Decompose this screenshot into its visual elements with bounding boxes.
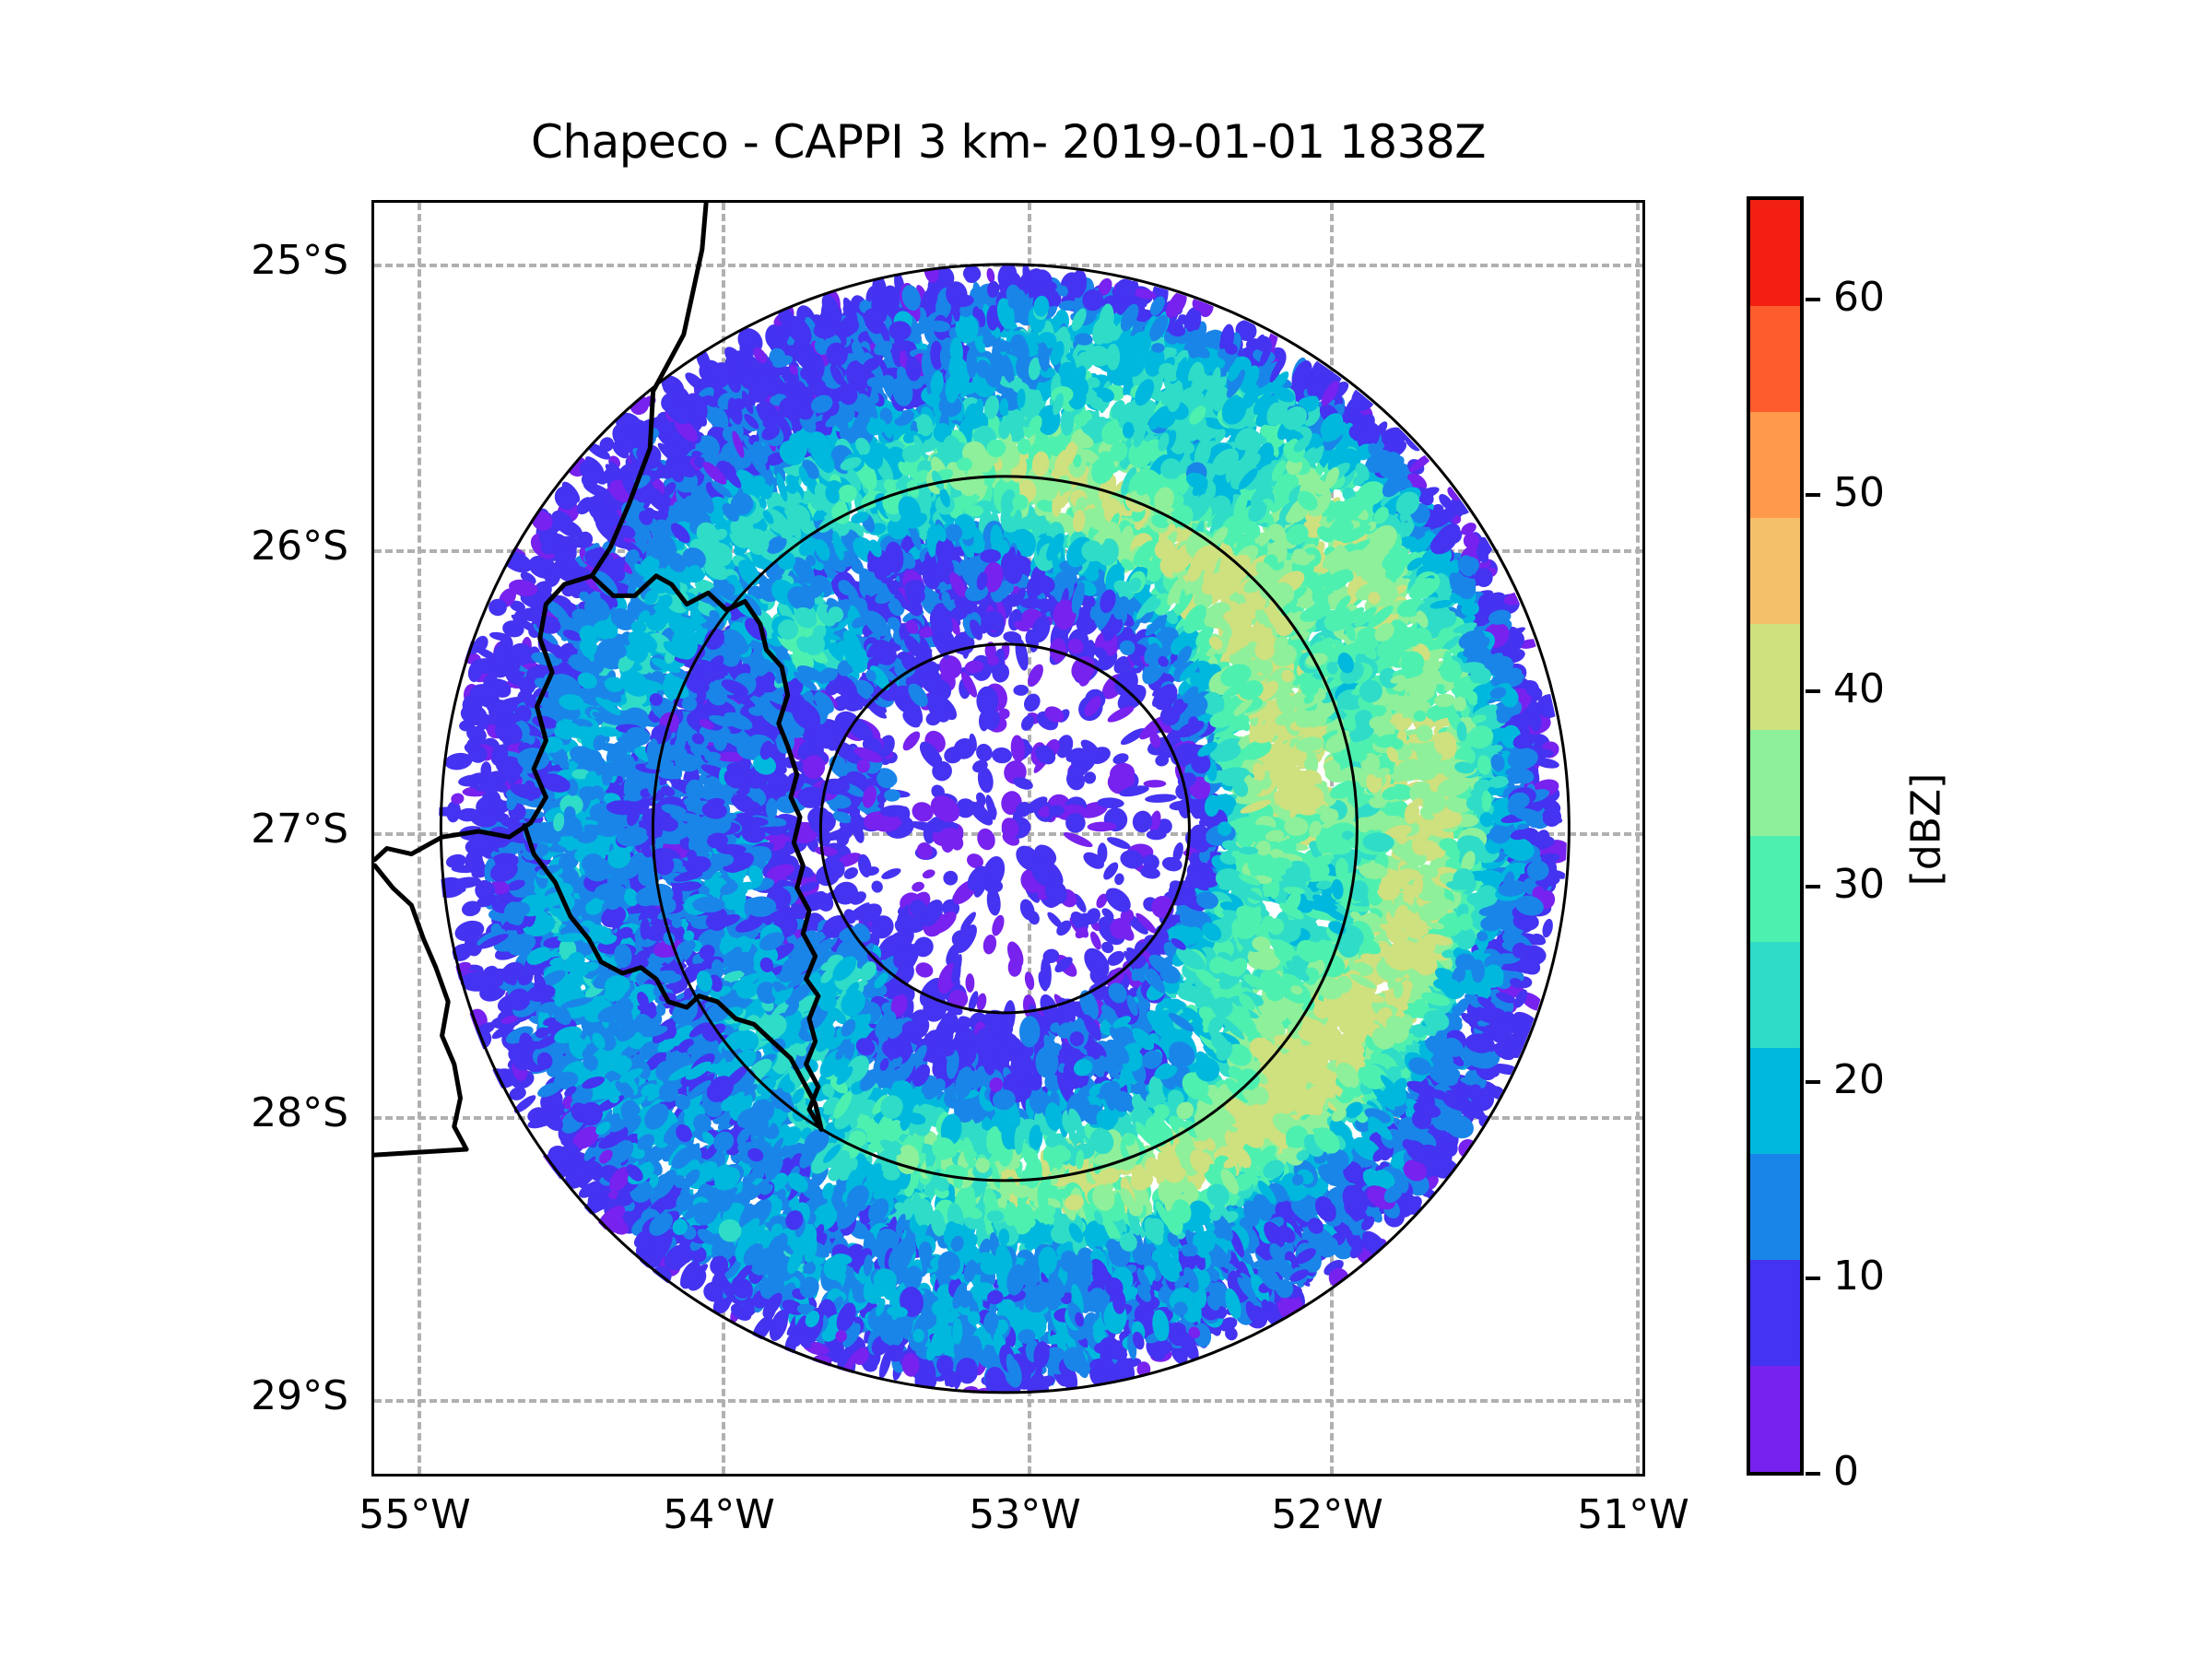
page-title: Chapeco - CAPPI 3 km- 2019-01-01 1838Z — [371, 114, 1645, 170]
ytick-label-28S: 28°S — [251, 1089, 348, 1137]
ytick-26S — [371, 549, 374, 552]
ytick-27S — [371, 832, 374, 835]
ytick-28S — [371, 1116, 374, 1119]
xtick-label-53W: 53°W — [969, 1491, 1081, 1539]
colorbar-tick-50 — [1806, 493, 1820, 497]
colorbar-tick-label-0: 0 — [1833, 1449, 1859, 1495]
map-axes — [371, 200, 1645, 1477]
colorbar-tick-0 — [1806, 1472, 1820, 1476]
xtick-label-52W: 52°W — [1271, 1491, 1383, 1539]
colorbar-band-0 — [1750, 1366, 1800, 1472]
xtick-label-54W: 54°W — [663, 1491, 775, 1539]
xtick-label-55W: 55°W — [359, 1491, 471, 1539]
colorbar-tick-10 — [1806, 1277, 1820, 1280]
radar-reflectivity-layer — [374, 203, 1642, 1474]
ytick-label-27S: 27°S — [251, 806, 348, 853]
ytick-label-29S: 29°S — [251, 1372, 348, 1420]
ytick-label-26S: 26°S — [251, 523, 348, 571]
colorbar-tick-label-20: 20 — [1833, 1057, 1885, 1103]
colorbar-tick-label-30: 30 — [1833, 862, 1885, 908]
colorbar-tick-label-10: 10 — [1833, 1253, 1885, 1300]
colorbar-ticks: 0102030405060 — [1806, 196, 1916, 1476]
colorbar-tick-20 — [1806, 1080, 1820, 1084]
colorbar-tick-40 — [1806, 689, 1820, 693]
colorbar-unit-label: [dBZ] — [1903, 773, 1950, 887]
colorbar-band-6 — [1750, 730, 1800, 836]
colorbar-tick-30 — [1806, 885, 1820, 888]
map-clip — [374, 203, 1642, 1474]
colorbar-band-11 — [1750, 200, 1800, 306]
state-border-3 — [375, 865, 467, 1155]
colorbar-tick-label-40: 40 — [1833, 666, 1885, 712]
colorbar-band-2 — [1750, 1154, 1800, 1260]
ytick-29S — [371, 1399, 374, 1402]
colorbar-tick-60 — [1806, 298, 1820, 301]
colorbar-band-10 — [1750, 306, 1800, 412]
ytick-25S — [371, 264, 374, 266]
colorbar-band-7 — [1750, 624, 1800, 730]
colorbar-band-9 — [1750, 412, 1800, 518]
radar-figure: Chapeco - CAPPI 3 km- 2019-01-01 1838Z — [0, 0, 2212, 1659]
colorbar-band-3 — [1750, 1048, 1800, 1154]
colorbar-band-1 — [1750, 1260, 1800, 1366]
reflectivity-echoes — [430, 257, 1572, 1406]
ytick-label-25S: 25°S — [251, 237, 348, 285]
colorbar-band-8 — [1750, 518, 1800, 624]
colorbar-tick-label-60: 60 — [1833, 275, 1885, 321]
colorbar-tick-label-50: 50 — [1833, 470, 1885, 516]
colorbar-band-4 — [1750, 942, 1800, 1048]
xtick-label-51W: 51°W — [1577, 1491, 1689, 1539]
colorbar — [1747, 196, 1804, 1476]
colorbar-band-5 — [1750, 836, 1800, 942]
